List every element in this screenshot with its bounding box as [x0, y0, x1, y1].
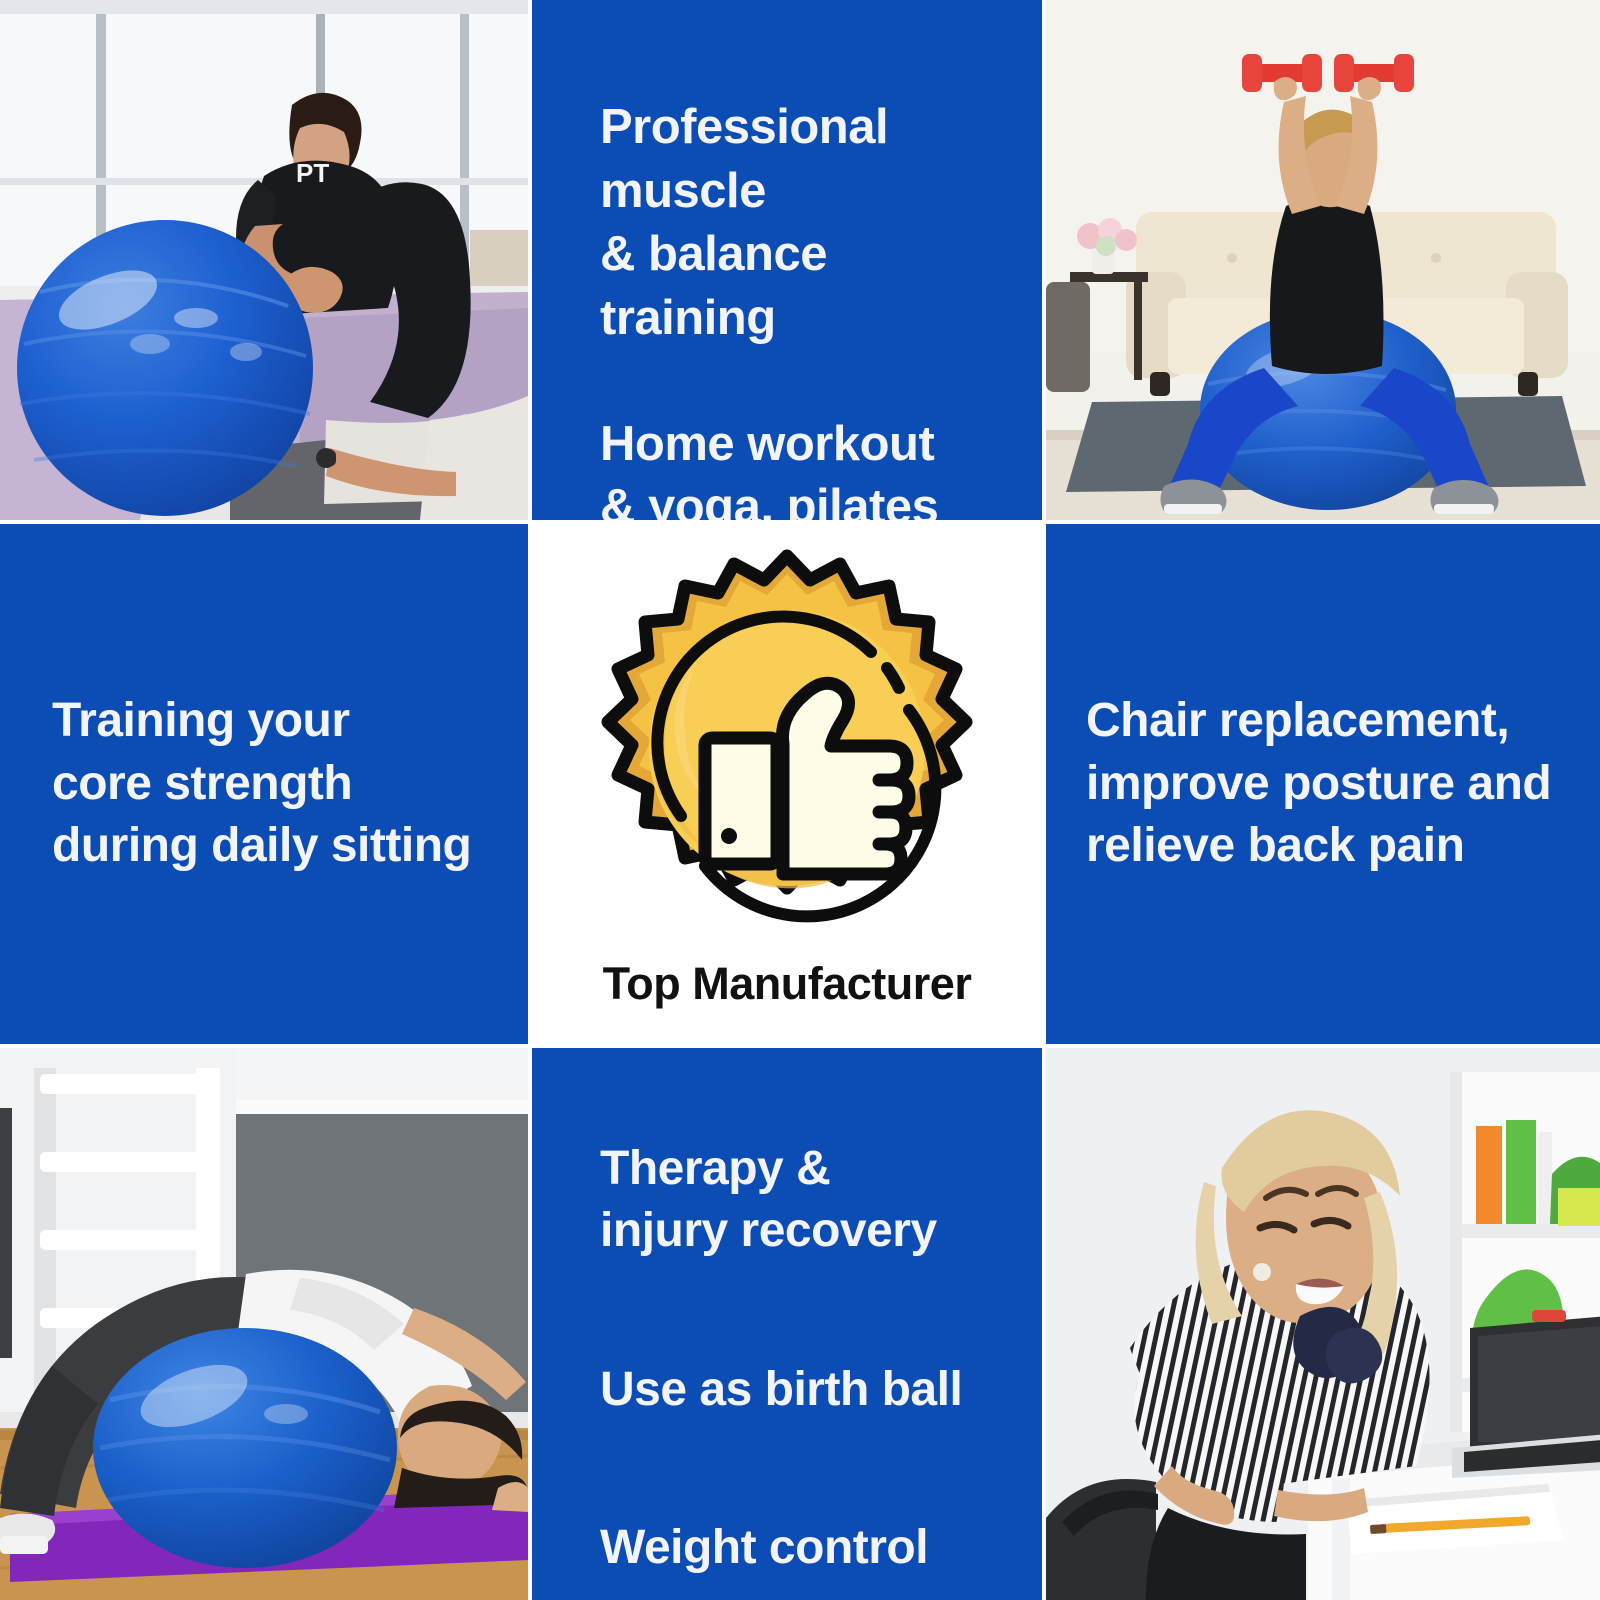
therapy-paragraph-1: Therapy & injury recovery: [600, 1138, 998, 1263]
training-line-3: Home workout: [600, 413, 998, 477]
woman-stretching-over-ball-photo: [0, 1048, 528, 1600]
therapy-line-2: injury recovery: [600, 1200, 998, 1262]
product-feature-infographic: PT: [0, 0, 1600, 1600]
therapy-line-3: Use as birth ball: [600, 1359, 998, 1421]
training-line-1: Professional muscle: [600, 96, 998, 223]
thumbs-up-medal-icon: [587, 548, 987, 948]
office-worker-back-pain-photo: [1046, 1048, 1600, 1600]
therapist-with-ball-photo: PT: [0, 0, 528, 520]
chair-line-3: relieve back pain: [1086, 815, 1588, 877]
photo-cell-dumbbell-workout: [1046, 0, 1600, 520]
therapy-paragraph-3: Weight control: [600, 1517, 998, 1579]
training-line-4: & yoga, pilates: [600, 476, 998, 520]
svg-text:PT: PT: [296, 158, 329, 188]
core-strength-text-block: Training your core strength during daily…: [0, 524, 528, 1044]
feature-cell-therapy: Therapy & injury recovery Use as birth b…: [532, 1048, 1042, 1600]
training-text-block: Professional muscle & balance training H…: [532, 96, 1042, 520]
photo-cell-therapist: PT: [0, 0, 528, 520]
core-line-1: Training your: [52, 690, 484, 752]
feature-cell-chair-replacement: Chair replacement, improve posture and r…: [1046, 524, 1600, 1044]
photo-cell-back-stretch: [0, 1048, 528, 1600]
training-paragraph-1: Professional muscle & balance training: [600, 96, 998, 351]
training-line-2: & balance training: [600, 223, 998, 350]
woman-on-ball-dumbbells-photo: [1046, 0, 1600, 520]
top-manufacturer-badge-cell: Top Manufacturer: [532, 524, 1042, 1044]
feature-cell-core-strength: Training your core strength during daily…: [0, 524, 528, 1044]
chair-line-2: improve posture and: [1086, 753, 1588, 815]
badge-label: Top Manufacturer: [603, 958, 972, 1010]
therapy-paragraph-2: Use as birth ball: [600, 1359, 998, 1421]
core-line-2: core strength: [52, 753, 484, 815]
training-paragraph-2: Home workout & yoga, pilates: [600, 413, 998, 520]
therapy-line-4: Weight control: [600, 1517, 998, 1579]
chair-line-1: Chair replacement,: [1086, 690, 1588, 752]
chair-replacement-text-block: Chair replacement, improve posture and r…: [1046, 524, 1600, 1044]
therapy-text-block: Therapy & injury recovery Use as birth b…: [532, 1138, 1042, 1580]
photo-cell-back-pain: [1046, 1048, 1600, 1600]
therapy-line-1: Therapy &: [600, 1138, 998, 1200]
core-line-3: during daily sitting: [52, 815, 484, 877]
feature-cell-training: Professional muscle & balance training H…: [532, 0, 1042, 520]
